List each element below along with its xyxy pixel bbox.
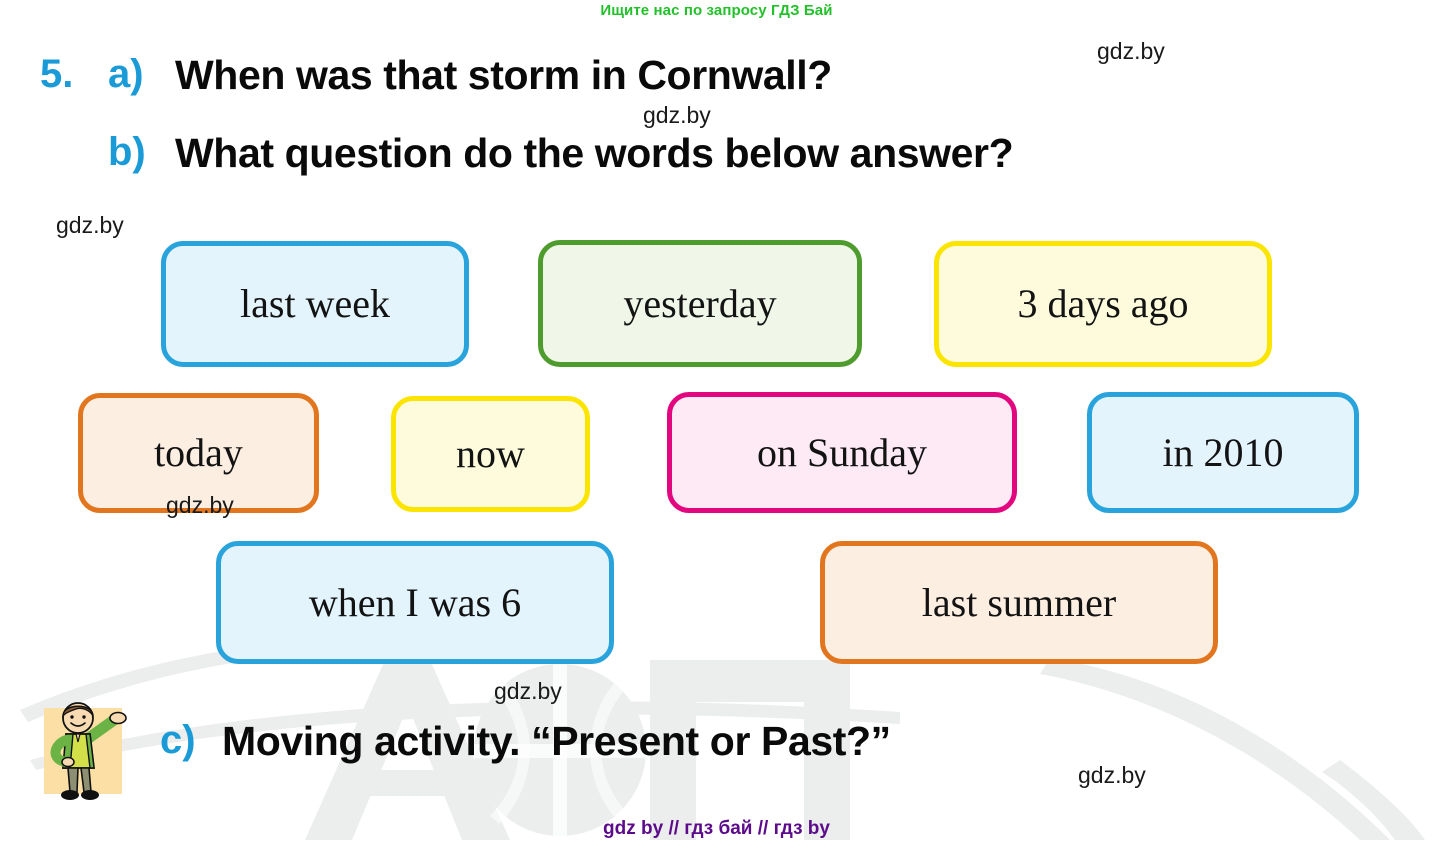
item-letter-b: b)	[108, 130, 146, 175]
word-card-last-week[interactable]: last week	[161, 241, 469, 367]
word-card-label: last summer	[922, 583, 1116, 623]
gdz-watermark: gdz.by	[643, 102, 711, 129]
word-card-in-2010[interactable]: in 2010	[1087, 392, 1359, 513]
word-card-now[interactable]: now	[391, 396, 590, 512]
item-letter-a: a)	[108, 52, 144, 97]
site-banner: Ищите нас по запросу ГДЗ Бай	[0, 2, 1433, 19]
word-card-label: yesterday	[623, 284, 776, 324]
exercise-number: 5.	[40, 52, 73, 97]
item-text-c: Moving activity. “Present or Past?”	[222, 718, 891, 765]
gdz-watermark: gdz.by	[56, 212, 124, 239]
word-card-last-summer[interactable]: last summer	[820, 541, 1218, 664]
worksheet-page: Ищите нас по запросу ГДЗ Бай 5. a) When …	[0, 0, 1433, 850]
word-card-label: in 2010	[1162, 433, 1283, 473]
word-card-label: last week	[240, 284, 390, 324]
word-card-when-i-was-6[interactable]: when I was 6	[216, 541, 614, 664]
item-text-a: When was that storm in Cornwall?	[175, 52, 832, 99]
word-card-3-days-ago[interactable]: 3 days ago	[934, 241, 1272, 367]
boy-raising-hand-illustration	[36, 696, 136, 808]
word-card-yesterday[interactable]: yesterday	[538, 240, 862, 367]
word-card-label: today	[154, 433, 243, 473]
word-card-label: now	[456, 434, 525, 474]
word-card-label: when I was 6	[309, 583, 521, 623]
gdz-watermark: gdz.by	[1078, 762, 1146, 789]
item-letter-c: c)	[160, 718, 196, 763]
word-card-on-sunday[interactable]: on Sunday	[667, 392, 1017, 513]
item-text-b: What question do the words below answer?	[175, 130, 1013, 177]
footer-watermark: gdz by // гдз бай // гдз by	[0, 818, 1433, 840]
word-card-today[interactable]: today	[78, 393, 319, 513]
gdz-watermark: gdz.by	[1097, 38, 1165, 65]
word-card-label: 3 days ago	[1017, 284, 1188, 324]
word-card-label: on Sunday	[757, 433, 927, 473]
gdz-watermark: gdz.by	[494, 678, 562, 705]
